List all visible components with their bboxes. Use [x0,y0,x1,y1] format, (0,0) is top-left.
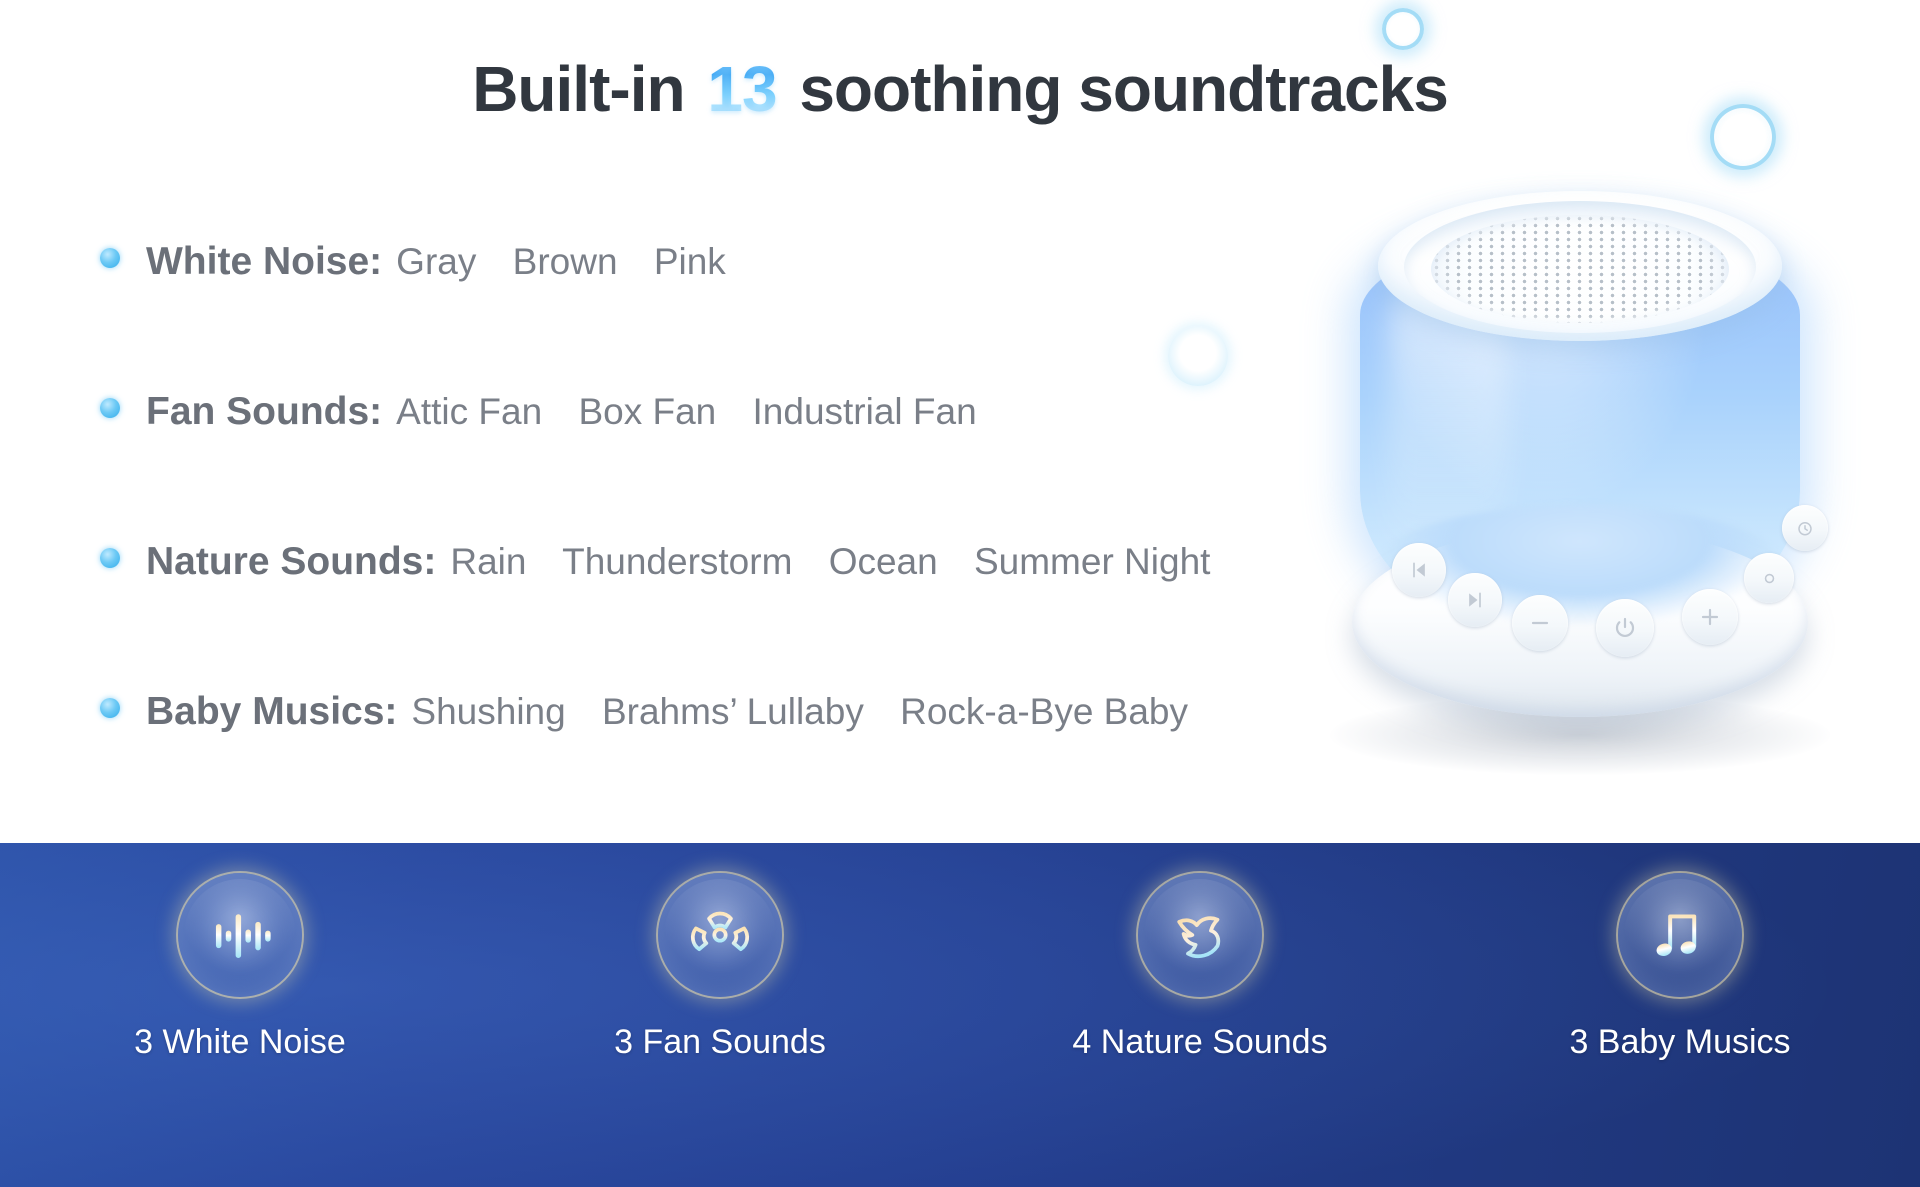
category-baby-musics[interactable]: 3 Baby Musics [1470,873,1890,1062]
feature-value: Rock-a-Bye Baby [900,691,1188,732]
bird-icon [1165,900,1235,970]
volume-down-button[interactable] [1512,595,1568,651]
category-orb [178,873,302,997]
category-orb [1138,873,1262,997]
list-item: Nature Sounds: Rain Thunderstorm Ocean S… [100,540,1350,690]
bullet-dot-icon [100,548,120,568]
feature-values: Shushing Brahms’ Lullaby Rock-a-Bye Baby [411,691,1188,733]
feature-list: White Noise: Gray Brown Pink Fan Sounds:… [100,240,1350,840]
sound-wave-icon [205,900,275,970]
page-title: Built-in 13 soothing soundtracks [0,52,1920,126]
feature-value: Summer Night [974,541,1210,582]
category-label: 3 Baby Musics [1569,1023,1790,1062]
feature-label: Nature Sounds: [146,540,436,584]
category-label: 3 Fan Sounds [614,1023,826,1062]
feature-value: Thunderstorm [562,541,792,582]
category-banner: 3 White Noise [0,843,1920,1187]
category-nature-sounds[interactable]: 4 Nature Sounds [990,873,1410,1062]
feature-value: Rain [450,541,526,582]
category-white-noise[interactable]: 3 White Noise [30,873,450,1062]
category-orb [658,873,782,997]
feature-label: Baby Musics: [146,690,397,734]
bullet-dot-icon [100,398,120,418]
feature-label: Fan Sounds: [146,390,382,434]
bullet-dot-icon [100,698,120,718]
product-image [1300,175,1860,795]
title-suffix: soothing soundtracks [799,53,1448,125]
music-note-icon [1645,900,1715,970]
category-list: 3 White Noise [0,843,1920,1187]
feature-value: Box Fan [578,391,716,432]
category-fan-sounds[interactable]: 3 Fan Sounds [510,873,930,1062]
fan-blades-icon [685,900,755,970]
list-item: Fan Sounds: Attic Fan Box Fan Industrial… [100,390,1350,540]
feature-value: Industrial Fan [753,391,977,432]
previous-track-button[interactable] [1392,543,1446,597]
title-prefix: Built-in [472,53,684,125]
feature-label: White Noise: [146,240,382,284]
feature-values: Rain Thunderstorm Ocean Summer Night [450,541,1210,583]
speaker-grille [1431,215,1729,323]
next-track-button[interactable] [1448,573,1502,627]
category-label: 3 White Noise [134,1023,346,1062]
feature-value: Brahms’ Lullaby [602,691,864,732]
feature-values: Gray Brown Pink [396,241,726,283]
title-count: 13 [701,53,782,125]
feature-value: Attic Fan [396,391,542,432]
feature-value: Shushing [411,691,565,732]
decorative-bubble-icon [1382,8,1424,50]
feature-value: Brown [513,241,618,282]
list-item: White Noise: Gray Brown Pink [100,240,1350,390]
light-mode-button[interactable] [1744,553,1794,603]
feature-value: Gray [396,241,476,282]
hero-panel: Built-in 13 soothing soundtracks White N… [0,0,1920,843]
speaker-grille-perforations [1431,215,1729,323]
feature-value: Pink [654,241,726,282]
feature-values: Attic Fan Box Fan Industrial Fan [396,391,977,433]
list-item: Baby Musics: Shushing Brahms’ Lullaby Ro… [100,690,1350,840]
category-orb [1618,873,1742,997]
feature-value: Ocean [829,541,938,582]
power-button[interactable] [1596,599,1654,657]
timer-button[interactable] [1782,505,1828,551]
bullet-dot-icon [100,248,120,268]
category-label: 4 Nature Sounds [1072,1023,1327,1062]
volume-up-button[interactable] [1682,589,1738,645]
